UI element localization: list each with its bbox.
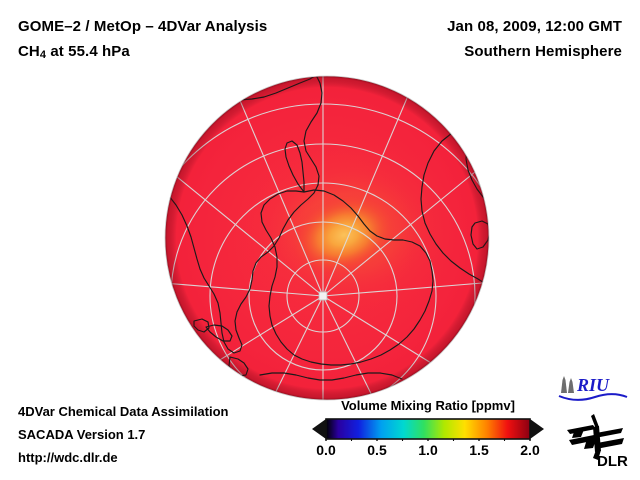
colorbar-tick-label-1: 0.5	[367, 442, 386, 458]
polar-stereographic-map	[164, 75, 490, 401]
footer-line-method: 4DVar Chemical Data Assimilation	[18, 400, 229, 423]
colorbar-tick-label-0: 0.0	[316, 442, 335, 458]
footer-line-url: http://wdc.dlr.de	[18, 446, 229, 469]
datetime-label: Jan 08, 2009, 12:00 GMT	[322, 14, 622, 39]
species-subscript: 4	[40, 49, 46, 61]
colorbar-scale	[312, 417, 544, 441]
south-pole-marker	[319, 292, 327, 300]
footer-line-version: SACADA Version 1.7	[18, 423, 229, 446]
species-level-label: CH4 at 55.4 hPa	[18, 39, 348, 66]
dlr-logo-text: DLR	[597, 453, 628, 468]
riu-logo-text: RIU	[576, 375, 610, 395]
colorbar-extend-max-arrow	[530, 419, 544, 439]
colorbar-tick-label-3: 1.5	[469, 442, 488, 458]
map-globe	[164, 75, 490, 401]
colorbar: Volume Mixing Ratio [ppmv]	[312, 398, 544, 462]
riu-logo: RIU	[557, 373, 629, 403]
page-title: GOME–2 / MetOp – 4DVar Analysis	[18, 14, 348, 39]
colorbar-gradient	[326, 419, 530, 439]
region-label: Southern Hemisphere	[322, 39, 622, 64]
header-left: GOME–2 / MetOp – 4DVar Analysis CH4 at 5…	[18, 14, 348, 66]
header-right: Jan 08, 2009, 12:00 GMT Southern Hemisph…	[322, 14, 622, 64]
colorbar-extend-min-arrow	[312, 419, 326, 439]
riu-tower-icon	[561, 376, 574, 393]
limb-shading	[165, 76, 489, 400]
colorbar-tick-labels: 0.0 0.5 1.0 1.5 2.0	[312, 442, 544, 462]
species-name: CH	[18, 43, 40, 60]
colorbar-tick-label-4: 2.0	[520, 442, 539, 458]
footer-left: 4DVar Chemical Data Assimilation SACADA …	[18, 400, 229, 469]
colorbar-tick-label-2: 1.0	[418, 442, 437, 458]
colorbar-title: Volume Mixing Ratio [ppmv]	[312, 398, 544, 413]
dlr-logo: DLR	[563, 414, 629, 468]
pressure-level: at 55.4 hPa	[46, 43, 130, 60]
map-field	[164, 75, 490, 401]
